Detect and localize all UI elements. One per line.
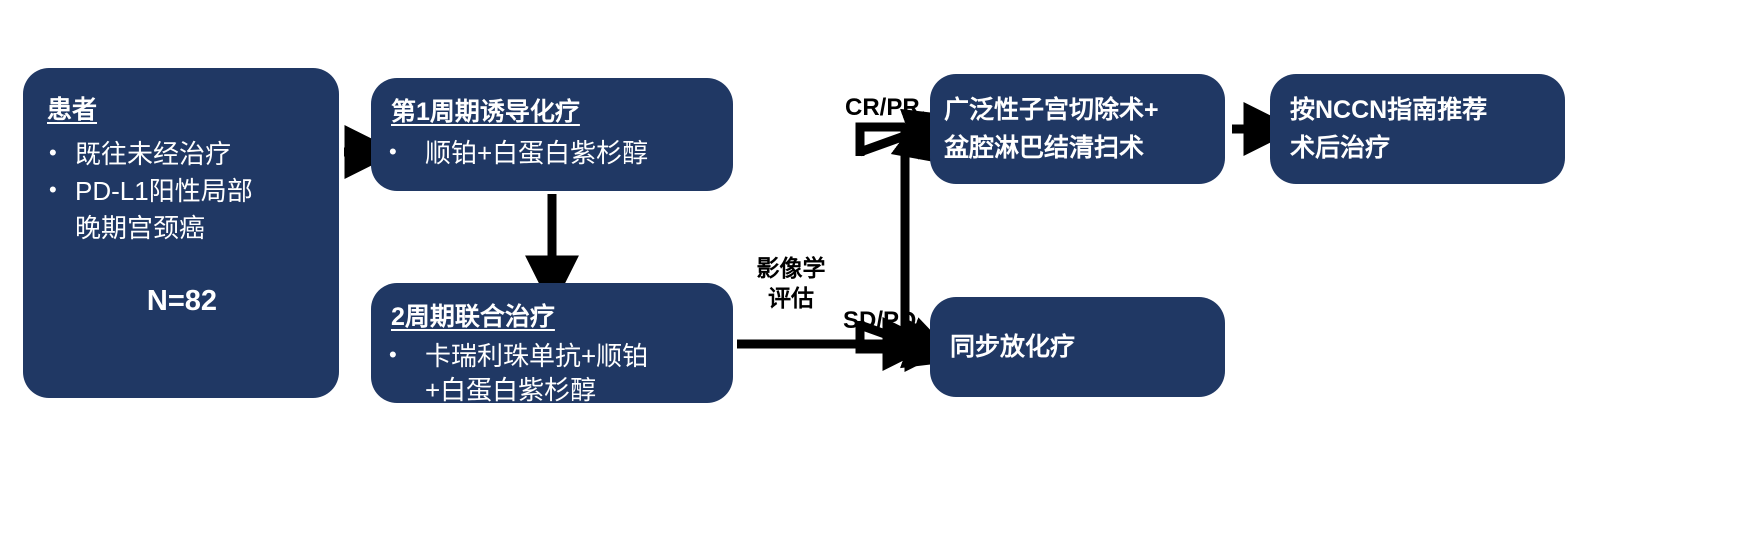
node-nccn-adjuvant-therapy[interactable]: 按NCCN指南推荐 术后治疗 [1270, 74, 1565, 184]
bullet-marker-icon: • [49, 173, 75, 201]
node-concurrent-chemoradiation[interactable]: 同步放化疗 [930, 297, 1225, 397]
combination-bullet-1-text: 卡瑞利珠单抗+顺铂 +白蛋白紫杉醇 [425, 339, 648, 407]
edge-label-imaging-assessment: 影像学 评估 [748, 253, 834, 313]
combination-bullet-1: • 卡瑞利珠单抗+顺铂 +白蛋白紫杉醇 [389, 339, 717, 407]
induction-bullet-1: • 顺铂+白蛋白紫杉醇 [389, 136, 717, 170]
patients-bullet-1-text: 既往未经治疗 [75, 136, 231, 173]
patients-heading: 患者 [47, 90, 319, 126]
induction-heading: 第1周期诱导化疗 [391, 92, 717, 128]
node-patients[interactable]: 患者 • 既往未经治疗 • PD-L1阳性局部 晚期宫颈癌 N=82 [23, 68, 339, 398]
patients-bullet-1: • 既往未经治疗 [49, 136, 319, 173]
bullet-marker-icon: • [49, 136, 75, 164]
node-induction-chemo[interactable]: 第1周期诱导化疗 • 顺铂+白蛋白紫杉醇 [371, 78, 733, 191]
node-combination-therapy[interactable]: 2周期联合治疗 • 卡瑞利珠单抗+顺铂 +白蛋白紫杉醇 [371, 283, 733, 403]
induction-bullet-1-text: 顺铂+白蛋白紫杉醇 [425, 136, 648, 170]
adjuvant-title: 按NCCN指南推荐 术后治疗 [1290, 91, 1487, 167]
chemoradiation-title: 同步放化疗 [950, 328, 1075, 366]
surgery-title: 广泛性子宫切除术+ 盆腔淋巴结清扫术 [944, 91, 1159, 167]
arrow-upper-diagonal [860, 130, 921, 152]
patients-bullet-2: • PD-L1阳性局部 晚期宫颈癌 [49, 173, 319, 247]
patients-sample-size: N=82 [45, 285, 319, 318]
edge-label-sd-pd: SD/PD [843, 306, 916, 336]
bullet-marker-icon: • [389, 339, 425, 366]
combination-heading: 2周期联合治疗 [391, 297, 717, 333]
flowchart-canvas: 影像学 评估 CR/PR SD/PD 患者 • 既往未经治疗 • PD-L1阳性… [0, 0, 1738, 537]
edge-label-cr-pr: CR/PR [845, 93, 920, 123]
node-radical-surgery[interactable]: 广泛性子宫切除术+ 盆腔淋巴结清扫术 [930, 74, 1225, 184]
patients-bullet-2-text: PD-L1阳性局部 晚期宫颈癌 [75, 173, 253, 247]
bullet-marker-icon: • [389, 136, 425, 163]
